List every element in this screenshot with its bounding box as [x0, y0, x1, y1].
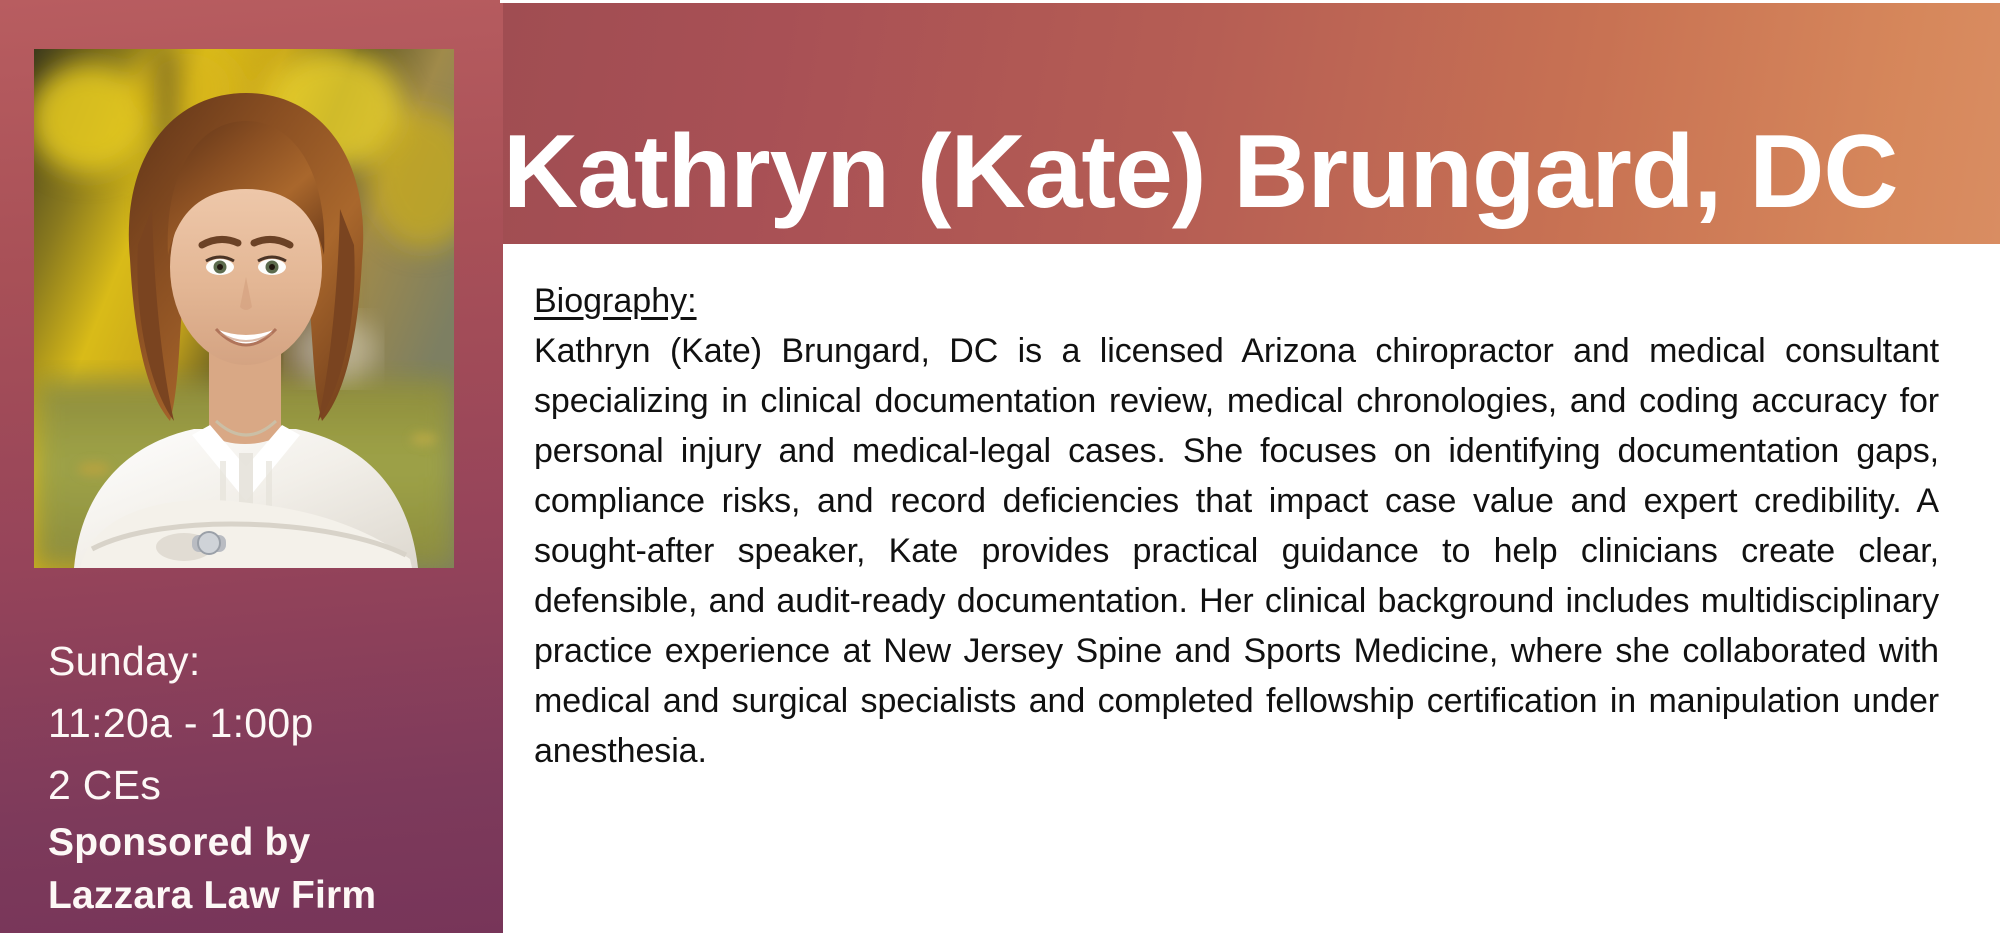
speaker-portrait-image	[34, 49, 454, 568]
session-meta: Sunday: 11:20a - 1:00p 2 CEs Sponsored b…	[48, 630, 488, 922]
session-credits: 2 CEs	[48, 754, 488, 816]
biography-heading: Biography:	[534, 278, 1939, 324]
top-divider	[500, 0, 2000, 3]
sponsor-prefix: Sponsored by	[48, 816, 488, 869]
speaker-photo	[34, 49, 454, 568]
header-band: Kathryn (Kate) Brungard, DC	[503, 3, 2000, 244]
biography-panel: Biography: Kathryn (Kate) Brungard, DC i…	[503, 244, 2000, 933]
sponsor-name: Lazzara Law Firm	[48, 869, 488, 922]
page-title: Kathryn (Kate) Brungard, DC	[503, 120, 1970, 224]
session-time: 11:20a - 1:00p	[48, 692, 488, 754]
biography-text: Kathryn (Kate) Brungard, DC is a license…	[534, 326, 1939, 776]
session-day: Sunday:	[48, 630, 488, 692]
speaker-bio-slide: Sunday: 11:20a - 1:00p 2 CEs Sponsored b…	[0, 0, 2000, 933]
sidebar: Sunday: 11:20a - 1:00p 2 CEs Sponsored b…	[0, 0, 503, 933]
